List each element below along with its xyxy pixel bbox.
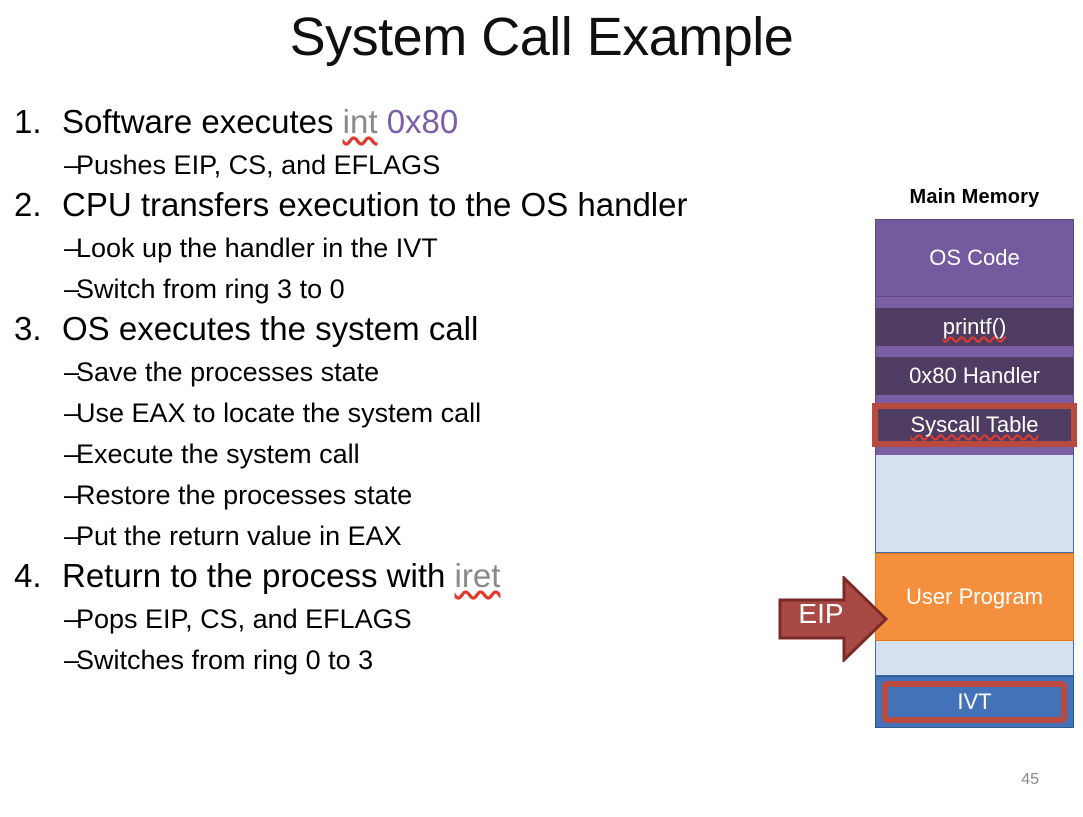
outline-item-1: 1. Software executes int 0x80 xyxy=(8,105,778,138)
memory-block-label: 0x80 Handler xyxy=(909,365,1040,387)
code-token-iret: iret xyxy=(455,557,501,594)
memory-block-ivt: IVT xyxy=(875,676,1074,728)
outline-subitem: – Pushes EIP, CS, and EFLAGS xyxy=(8,152,778,179)
outline-subitem-label: Save the processes state xyxy=(76,359,778,386)
bullet-dash: – xyxy=(8,235,76,262)
outline-number-4: 4. xyxy=(8,559,62,592)
code-token-0x80: 0x80 xyxy=(387,103,459,140)
outline-number-1: 1. xyxy=(8,105,62,138)
bullet-dash: – xyxy=(8,276,76,303)
outline-text-4: Return to the process with iret xyxy=(62,559,778,592)
memory-block-syscall-table: Syscall Table xyxy=(875,406,1074,444)
outline-subitem-label: Use EAX to locate the system call xyxy=(76,400,778,427)
outline-subitem-label: Pops EIP, CS, and EFLAGS xyxy=(76,606,778,633)
memory-block-label: IVT xyxy=(957,691,991,713)
memory-block-0x80-handler: 0x80 Handler xyxy=(875,357,1074,395)
outline-subitem: – Put the return value in EAX xyxy=(8,523,778,550)
bullet-dash: – xyxy=(8,606,76,633)
memory-block-separator xyxy=(875,395,1074,406)
outline-number-2: 2. xyxy=(8,188,62,221)
bullet-dash: – xyxy=(8,359,76,386)
bullet-dash: – xyxy=(8,647,76,674)
outline-text-1: Software executes int 0x80 xyxy=(62,105,778,138)
outline-subitem: – Save the processes state xyxy=(8,359,778,386)
outline-subitem-label: Look up the handler in the IVT xyxy=(76,235,778,262)
eip-pointer-arrow: EIP xyxy=(778,576,888,662)
outline-subitem: – Switches from ring 0 to 3 xyxy=(8,647,778,674)
outline-list: 1. Software executes int 0x80 – Pushes E… xyxy=(8,105,778,682)
memory-block-printf: printf() xyxy=(875,308,1074,346)
outline-subitem-label: Execute the system call xyxy=(76,441,778,468)
memory-block-stack: OS Code printf() 0x80 Handler Syscall Ta… xyxy=(875,219,1074,728)
bullet-dash: – xyxy=(8,441,76,468)
outline-text-3: OS executes the system call xyxy=(62,312,778,345)
outline-text-1-space xyxy=(378,103,387,140)
outline-subitem-label: Put the return value in EAX xyxy=(76,523,778,550)
memory-block-free-lower xyxy=(875,641,1074,676)
outline-item-4: 4. Return to the process with iret xyxy=(8,559,778,592)
outline-subitem-label: Switch from ring 3 to 0 xyxy=(76,276,778,303)
page-title: System Call Example xyxy=(0,6,1083,68)
outline-subitem-label: Restore the processes state xyxy=(76,482,778,509)
outline-number-3: 3. xyxy=(8,312,62,345)
outline-subitem: – Execute the system call xyxy=(8,441,778,468)
memory-block-separator xyxy=(875,444,1074,455)
bullet-dash: – xyxy=(8,523,76,550)
outline-item-2: 2. CPU transfers execution to the OS han… xyxy=(8,188,778,221)
memory-block-label: Syscall Table xyxy=(911,414,1039,436)
page-number: 45 xyxy=(1021,771,1039,789)
memory-block-separator xyxy=(875,297,1074,308)
memory-block-separator xyxy=(875,346,1074,357)
memory-diagram: Main Memory OS Code printf() 0x80 Handle… xyxy=(875,186,1074,728)
memory-diagram-title: Main Memory xyxy=(875,186,1074,209)
outline-text-1-part-0: Software executes xyxy=(62,103,343,140)
outline-subitem-label: Switches from ring 0 to 3 xyxy=(76,647,778,674)
memory-block-free-upper xyxy=(875,455,1074,553)
bullet-dash: – xyxy=(8,482,76,509)
bullet-dash: – xyxy=(8,152,76,179)
outline-subitem: – Look up the handler in the IVT xyxy=(8,235,778,262)
memory-block-label: printf() xyxy=(943,316,1007,338)
memory-block-label: User Program xyxy=(906,586,1043,608)
outline-item-3: 3. OS executes the system call xyxy=(8,312,778,345)
outline-subitem: – Restore the processes state xyxy=(8,482,778,509)
outline-text-4-part-0: Return to the process with xyxy=(62,557,455,594)
bullet-dash: – xyxy=(8,400,76,427)
outline-subitem: – Use EAX to locate the system call xyxy=(8,400,778,427)
outline-subitem: – Switch from ring 3 to 0 xyxy=(8,276,778,303)
outline-subitem-label: Pushes EIP, CS, and EFLAGS xyxy=(76,152,778,179)
outline-subitem: – Pops EIP, CS, and EFLAGS xyxy=(8,606,778,633)
memory-block-label: OS Code xyxy=(929,247,1020,269)
memory-block-user-program: User Program xyxy=(875,553,1074,641)
memory-block-os-code: OS Code xyxy=(875,219,1074,297)
outline-text-2: CPU transfers execution to the OS handle… xyxy=(62,188,778,221)
code-token-int: int xyxy=(343,103,378,140)
